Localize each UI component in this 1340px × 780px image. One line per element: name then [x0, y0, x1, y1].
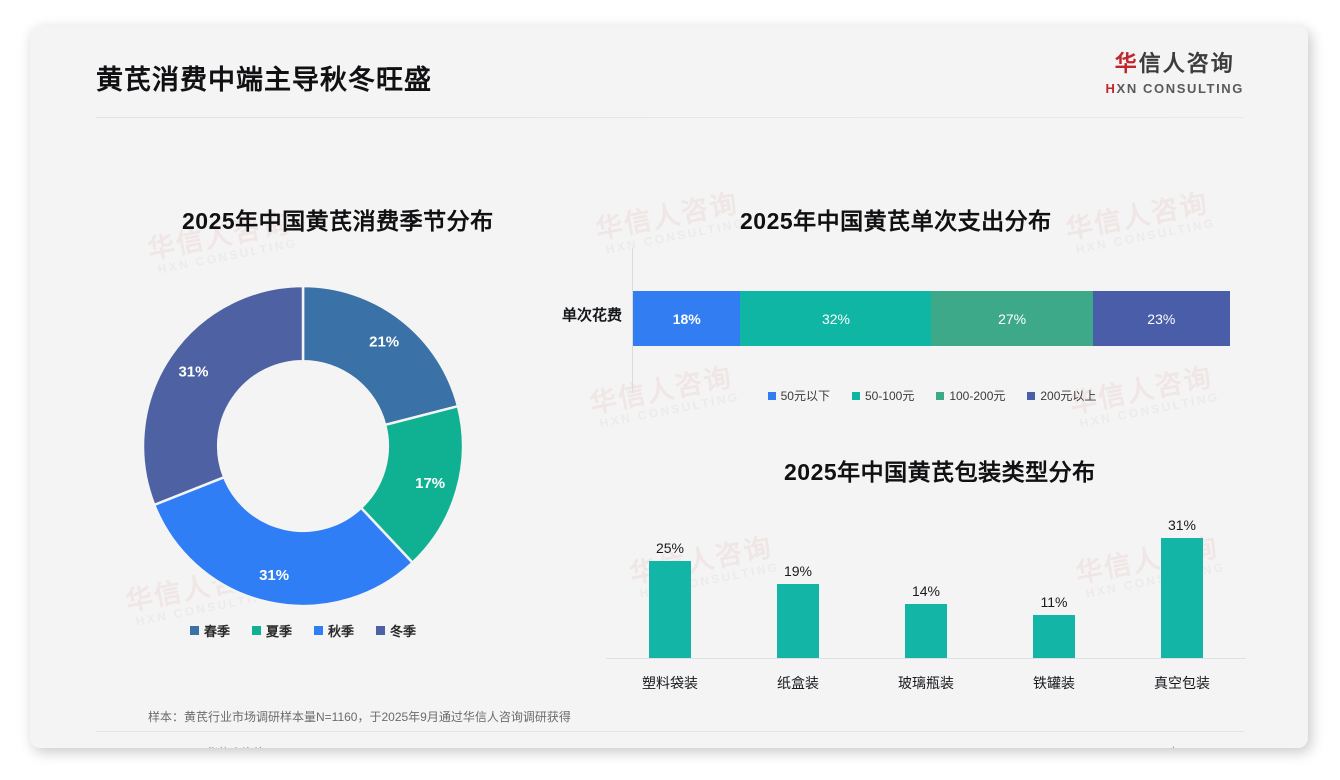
column-category-label: 铁罐装 [990, 673, 1118, 693]
legend-label: 春季 [204, 621, 230, 640]
season-donut-chart: 21%17%31%31% [138, 281, 468, 611]
column-value-label: 11% [1041, 594, 1068, 610]
legend-label: 50元以下 [781, 387, 830, 404]
logo-rest-chars: 信人咨询 [1139, 51, 1235, 76]
column-cell: 14% [862, 498, 990, 658]
column-cell: 31% [1118, 498, 1246, 658]
donut-chart-title: 2025年中国黄芪消费季节分布 [182, 202, 494, 236]
donut-slice[interactable] [303, 286, 458, 425]
donut-legend: 春季夏季秋季冬季 [138, 621, 468, 640]
legend-label: 秋季 [328, 621, 354, 640]
brand-logo: 华信人咨询 HXN CONSULTING [1106, 46, 1244, 96]
column-bar[interactable] [905, 604, 947, 658]
legend-swatch-icon [768, 392, 776, 400]
stacked-legend-item[interactable]: 50元以下 [768, 387, 830, 404]
column-bar[interactable] [649, 561, 691, 658]
column-cell: 25% [606, 498, 734, 658]
header-divider [96, 117, 1244, 118]
donut-slice-label: 31% [178, 364, 208, 381]
column-cell: 11% [990, 498, 1118, 658]
column-category-labels: 塑料袋装纸盒装玻璃瓶装铁罐装真空包装 [606, 673, 1246, 693]
legend-label: 50-100元 [865, 387, 914, 404]
donut-legend-item[interactable]: 春季 [190, 621, 230, 640]
slide-header: 黄芪消费中端主导秋冬旺盛 华信人咨询 HXN CONSULTING [30, 26, 1308, 118]
column-value-label: 14% [912, 583, 940, 599]
legend-swatch-icon [190, 626, 199, 635]
donut-svg: 21%17%31%31% [138, 281, 468, 611]
column-chart-title: 2025年中国黄芪包装类型分布 [784, 453, 1096, 487]
logo-english: HXN CONSULTING [1106, 81, 1244, 96]
column-cell: 19% [734, 498, 862, 658]
legend-label: 冬季 [390, 621, 416, 640]
column-bar[interactable] [1161, 538, 1203, 658]
legend-swatch-icon [936, 392, 944, 400]
column-bar[interactable] [777, 584, 819, 658]
column-baseline [606, 658, 1246, 659]
stacked-chart-title: 2025年中国黄芪单次支出分布 [740, 202, 1052, 236]
donut-legend-item[interactable]: 秋季 [314, 621, 354, 640]
stacked-legend: 50元以下50-100元100-200元200元以上 [632, 387, 1232, 404]
logo-en-rest: XN CONSULTING [1117, 81, 1244, 96]
watermark-en: HXN CONSULTING [157, 236, 299, 277]
website-link[interactable]: www.hxrcon.com [1143, 744, 1234, 748]
logo-chinese: 华信人咨询 [1106, 46, 1244, 78]
column-value-label: 25% [656, 540, 684, 556]
slide-card: 华信人咨询 HXN CONSULTING 华信人咨询 HXN CONSULTIN… [30, 26, 1308, 748]
watermark-cn: 华信人咨询 [1063, 188, 1214, 244]
legend-label: 200元以上 [1040, 387, 1096, 404]
column-bar[interactable] [1033, 615, 1075, 658]
column-value-label: 19% [784, 563, 812, 579]
stacked-legend-item[interactable]: 50-100元 [852, 387, 914, 404]
stacked-bar-segment[interactable]: 27% [931, 291, 1092, 346]
donut-slice-label: 31% [259, 567, 289, 584]
legend-swatch-icon [252, 626, 261, 635]
footer-divider [96, 731, 1244, 732]
legend-swatch-icon [852, 392, 860, 400]
donut-slice-label: 21% [369, 333, 399, 350]
column-category-label: 玻璃瓶装 [862, 673, 990, 693]
column-bars: 25%19%14%11%31% [606, 498, 1246, 658]
stacked-bar-segment[interactable]: 18% [633, 291, 740, 346]
column-category-label: 真空包装 [1118, 673, 1246, 693]
legend-label: 100-200元 [949, 387, 1005, 404]
legend-swatch-icon [376, 626, 385, 635]
source-note: 样本：黄芪行业市场调研样本量N=1160，于2025年9月通过华信人咨询调研获得 [148, 708, 571, 725]
legend-swatch-icon [1027, 392, 1035, 400]
logo-en-accent: H [1106, 81, 1117, 96]
stacked-legend-item[interactable]: 200元以上 [1027, 387, 1096, 404]
copyright-text: ©2025.11 HXR华信人咨询 [126, 744, 266, 748]
page-title: 黄芪消费中端主导秋冬旺盛 [96, 58, 432, 97]
stacked-bar-row: 18%32%27%23% [633, 291, 1230, 346]
spend-stacked-chart: 单次花费 18%32%27%23% [632, 248, 1232, 393]
legend-swatch-icon [314, 626, 323, 635]
column-category-label: 塑料袋装 [606, 673, 734, 693]
donut-legend-item[interactable]: 夏季 [252, 621, 292, 640]
watermark-cn: 华信人咨询 [593, 188, 744, 244]
column-category-label: 纸盒装 [734, 673, 862, 693]
stacked-bar-segment[interactable]: 32% [740, 291, 931, 346]
donut-legend-item[interactable]: 冬季 [376, 621, 416, 640]
stacked-legend-item[interactable]: 100-200元 [936, 387, 1005, 404]
column-value-label: 31% [1168, 517, 1196, 533]
donut-slice[interactable] [143, 286, 303, 505]
logo-accent-char: 华 [1115, 51, 1139, 76]
stacked-row-label: 单次花费 [536, 304, 622, 325]
package-column-chart: 25%19%14%11%31% 塑料袋装纸盒装玻璃瓶装铁罐装真空包装 [606, 496, 1246, 701]
legend-label: 夏季 [266, 621, 292, 640]
donut-slice-label: 17% [415, 475, 445, 492]
stacked-bar-segment[interactable]: 23% [1093, 291, 1230, 346]
